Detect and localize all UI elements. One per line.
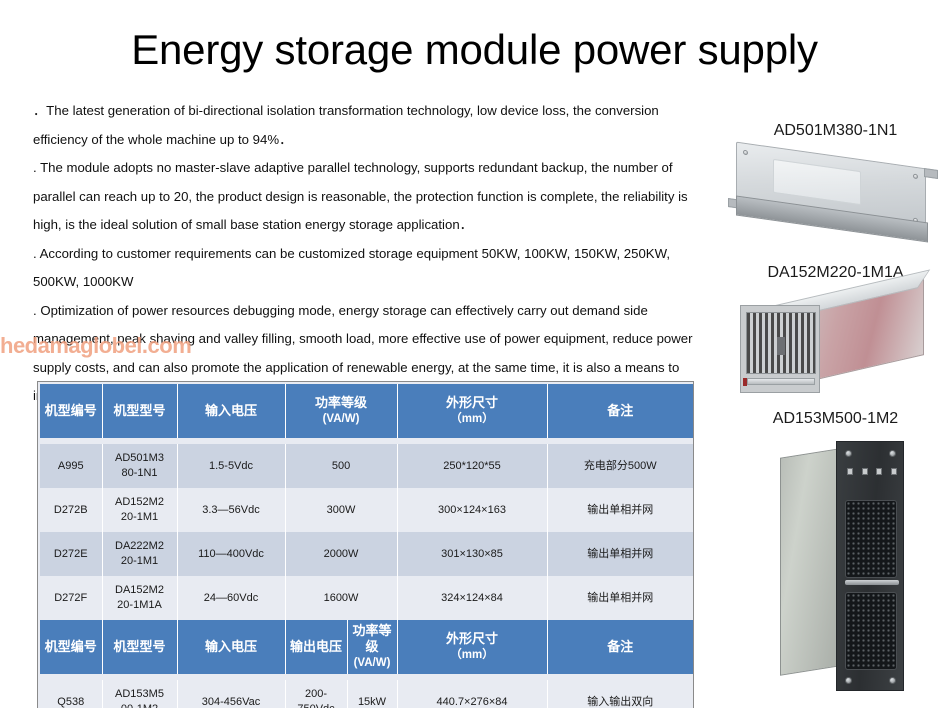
header-cell-power-grade: 功率等级 (VA/W) [285, 384, 397, 438]
cell-dimensions: 440.7×276×84 [397, 680, 547, 708]
header2-cell-dimensions: 外形尺寸 （mm） [397, 620, 547, 674]
cell-input-voltage: 110—400Vdc [177, 532, 285, 576]
header2-cell-input-voltage: 输入电压 [177, 620, 285, 674]
cell-model-type-line1: DA222M2 [115, 540, 164, 552]
cell-model-code: D272E [40, 532, 102, 576]
table-row: D272E DA222M2 20-1M1 110—400Vdc 2000W 30… [40, 532, 693, 576]
led-indicator-row [847, 468, 897, 476]
product-photo-tall-module [728, 435, 943, 697]
cell-remark: 输入输出双向 [547, 680, 693, 708]
description-block: ．The latest generation of bi-directional… [33, 97, 715, 411]
cell-input-voltage: 3.3—56Vdc [177, 488, 285, 532]
led-indicator-icon [876, 468, 882, 475]
table-row: A995 AD501M3 80-1N1 1.5-5Vdc 500 250*120… [40, 444, 693, 488]
cell-model-code: Q538 [40, 680, 102, 708]
cell-power-grade: 300W [285, 488, 397, 532]
header2-power-grade-unit: (VA/W) [350, 655, 395, 671]
header-cell-remark: 备注 [547, 384, 693, 438]
cell-output-voltage: 200- 750Vdc [285, 680, 347, 708]
header2-cell-model-code: 机型编号 [40, 620, 102, 674]
cell-remark: 输出单相并网 [547, 576, 693, 620]
cell-remark: 输出单相并网 [547, 532, 693, 576]
header2-cell-power-grade: 功率等级 (VA/W) [347, 620, 397, 674]
cell-model-type: AD501M3 80-1N1 [102, 444, 177, 488]
cell-dimensions: 324×124×84 [397, 576, 547, 620]
tall-module-side-panel [780, 448, 840, 676]
product-caption-3: AD153M500-1M2 [728, 410, 943, 428]
specification-table: 机型编号 机型型号 输入电压 功率等级 (VA/W) 外形尺寸 （mm） 备注 … [40, 384, 693, 708]
mounting-ear-right [924, 168, 938, 179]
header2-power-grade-main: 功率等级 [353, 623, 392, 654]
header-cell-model-type: 机型型号 [102, 384, 177, 438]
cell-input-voltage: 1.5-5Vdc [177, 444, 285, 488]
product-caption-1: AD501M380-1N1 [728, 122, 943, 140]
product-item-2: DA152M220-1M1A [728, 264, 943, 401]
cell-output-voltage-line1: 200- [305, 688, 327, 700]
product-item-3: AD153M500-1M2 [728, 410, 943, 697]
cell-power-grade: 1600W [285, 576, 397, 620]
page-title: Energy storage module power supply [0, 26, 949, 74]
header2-cell-model-type: 机型型号 [102, 620, 177, 674]
cell-dimensions: 300×124×163 [397, 488, 547, 532]
led-indicator-icon [891, 468, 897, 475]
header-power-grade-unit: (VA/W) [288, 411, 395, 427]
cell-model-type-line1: AD501M3 [115, 452, 164, 464]
fan-grille-icon-top [845, 500, 897, 578]
cell-input-voltage: 304-456Vac [177, 680, 285, 708]
led-indicator-icon [847, 468, 853, 475]
fan-hub [777, 337, 785, 355]
led-indicator-icon [862, 468, 868, 475]
cell-model-code: D272F [40, 576, 102, 620]
screw-icon [743, 150, 748, 156]
cell-dimensions: 250*120*55 [397, 444, 547, 488]
cell-model-type: DA152M2 20-1M1A [102, 576, 177, 620]
slide-page: Energy storage module power supply ．The … [0, 0, 949, 708]
description-paragraph-1: ．The latest generation of bi-directional… [33, 97, 715, 154]
table-row: D272B AD152M2 20-1M1 3.3—56Vdc 300W 300×… [40, 488, 693, 532]
table-header-row-2: 机型编号 机型型号 输入电压 输出电压 功率等级 (VA/W) 外形尺寸 （mm… [40, 620, 693, 674]
rack-module-front-face [740, 305, 820, 393]
cell-model-type-line2: 00-1M2 [121, 703, 158, 708]
cell-power-grade: 15kW [347, 680, 397, 708]
header-cell-input-voltage: 输入电压 [177, 384, 285, 438]
tall-module-front-face [836, 441, 904, 691]
table-header-row-1: 机型编号 机型型号 输入电压 功率等级 (VA/W) 外形尺寸 （mm） 备注 [40, 384, 693, 438]
cell-remark: 充电部分500W [547, 444, 693, 488]
header-dimensions-unit: （mm） [400, 411, 545, 427]
cell-model-type-line2: 20-1M1A [117, 599, 162, 611]
header-power-grade-main: 功率等级 [315, 395, 367, 410]
header-dimensions-main: 外形尺寸 [446, 395, 498, 410]
header-cell-dimensions: 外形尺寸 （mm） [397, 384, 547, 438]
table-row: D272F DA152M2 20-1M1A 24—60Vdc 1600W 324… [40, 576, 693, 620]
cell-model-type-line2: 20-1M1 [121, 555, 158, 567]
description-paragraph-2: . The module adopts no master-slave adap… [33, 154, 715, 240]
cell-power-grade: 2000W [285, 532, 397, 576]
pull-handle [845, 580, 899, 585]
header-cell-model-code: 机型编号 [40, 384, 102, 438]
status-led-icon [743, 378, 747, 386]
cell-input-voltage: 24—60Vdc [177, 576, 285, 620]
header2-cell-output-voltage: 输出电压 [285, 620, 347, 674]
cell-model-code: A995 [40, 444, 102, 488]
product-item-1: AD501M380-1N1 [728, 122, 943, 255]
screw-icon [845, 677, 852, 684]
header2-cell-remark: 备注 [547, 620, 693, 674]
cell-model-type: AD153M5 00-1M2 [102, 680, 177, 708]
front-panel-slot [747, 378, 815, 385]
specification-table-container: 机型编号 机型型号 输入电压 功率等级 (VA/W) 外形尺寸 （mm） 备注 … [37, 381, 694, 708]
cell-model-type-line1: AD153M5 [115, 688, 164, 700]
header2-dimensions-main: 外形尺寸 [446, 631, 498, 646]
cell-model-type-line1: DA152M2 [115, 584, 164, 596]
cell-dimensions: 301×130×85 [397, 532, 547, 576]
cell-model-type-line2: 80-1N1 [121, 467, 157, 479]
product-photo-rack-module [728, 289, 943, 401]
cell-power-grade: 500 [285, 444, 397, 488]
table-row: Q538 AD153M5 00-1M2 304-456Vac 200- 750V… [40, 680, 693, 708]
description-paragraph-3: . According to customer requirements can… [33, 240, 715, 297]
cell-output-voltage-line2: 750Vdc [297, 703, 334, 708]
chassis-recess-panel [773, 159, 861, 205]
product-photo-flat-chassis [728, 147, 943, 255]
cell-model-type-line2: 20-1M1 [121, 511, 158, 523]
cell-model-type: DA222M2 20-1M1 [102, 532, 177, 576]
screw-icon [913, 174, 918, 180]
screw-icon [845, 450, 852, 457]
screw-icon [889, 677, 896, 684]
cell-model-code: D272B [40, 488, 102, 532]
cell-model-type: AD152M2 20-1M1 [102, 488, 177, 532]
header2-dimensions-unit: （mm） [400, 647, 545, 663]
cell-model-type-line1: AD152M2 [115, 496, 164, 508]
fan-grille-icon-bottom [845, 592, 897, 670]
cell-remark: 输出单相并网 [547, 488, 693, 532]
screw-icon [889, 450, 896, 457]
vent-grille-icon [746, 312, 816, 374]
